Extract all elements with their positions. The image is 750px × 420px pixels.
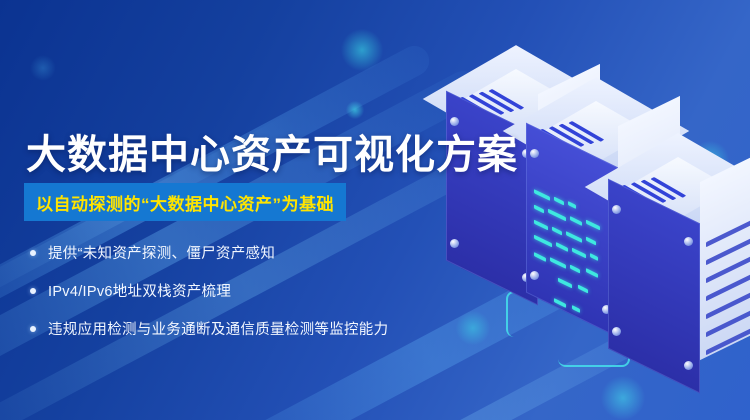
banner-title: 大数据中心资产可视化方案 xyxy=(26,122,518,180)
banner-subtitle-text: 以自动探测的“大数据中心资产”为基础 xyxy=(36,190,334,215)
server-rack xyxy=(602,151,750,401)
screw-icon xyxy=(530,271,539,280)
screw-icon xyxy=(612,327,621,336)
screw-icon xyxy=(684,237,693,246)
glow-dot-icon xyxy=(30,55,56,81)
bullet-dot-icon xyxy=(30,288,36,294)
screw-icon xyxy=(612,205,621,214)
list-item-label: IPv4/IPv6地址双栈资产梳理 xyxy=(48,280,231,301)
glow-dot-icon xyxy=(345,100,365,120)
banner-subtitle-bar: 以自动探测的“大数据中心资产”为基础 xyxy=(24,183,346,221)
list-item-label: 违规应用检测与业务通断及通信质量检测等监控能力 xyxy=(48,318,388,339)
marketing-banner: 大数据中心资产可视化方案 以自动探测的“大数据中心资产”为基础 提供“未知资产探… xyxy=(0,0,750,420)
screw-icon xyxy=(684,361,693,370)
screw-icon xyxy=(450,239,459,248)
list-item: IPv4/IPv6地址双栈资产梳理 xyxy=(30,276,450,305)
glow-dot-icon xyxy=(340,28,384,72)
feature-list: 提供“未知资产探测、僵尸资产感知 IPv4/IPv6地址双栈资产梳理 违规应用检… xyxy=(30,238,450,352)
screw-icon xyxy=(530,149,539,158)
server-rack-illustration xyxy=(432,55,750,395)
list-item-label: 提供“未知资产探测、僵尸资产感知 xyxy=(48,242,275,263)
bullet-dot-icon xyxy=(30,250,36,256)
rack-side-face xyxy=(700,152,750,360)
list-item: 提供“未知资产探测、僵尸资产感知 xyxy=(30,238,450,267)
list-item: 违规应用检测与业务通断及通信质量检测等监控能力 xyxy=(30,314,450,343)
bullet-dot-icon xyxy=(30,326,36,332)
